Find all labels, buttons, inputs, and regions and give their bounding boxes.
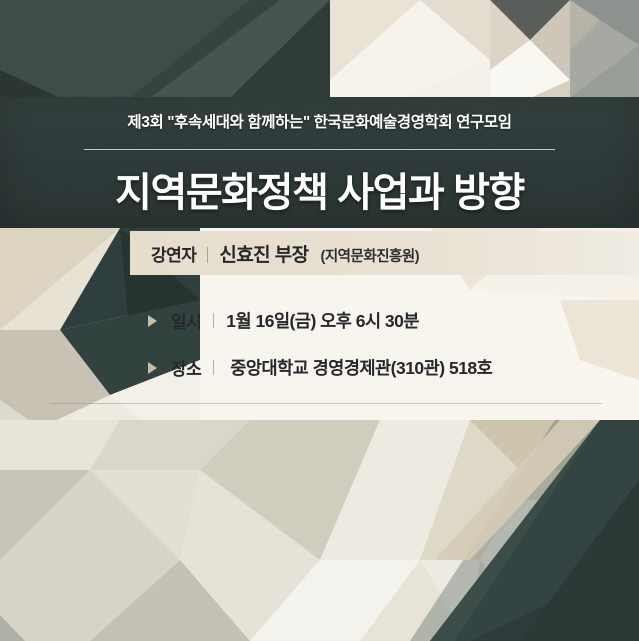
- date-value: 1월 16일(금) 오후 6시 30분: [226, 308, 419, 333]
- event-poster: 제3회 "후속세대와 함께하는" 한국문화예술경영학회 연구모임 지역문화정책 …: [0, 0, 639, 641]
- triangle-bullet-icon: [148, 315, 157, 327]
- event-subtitle: 제3회 "후속세대와 함께하는" 한국문화예술경영학회 연구모임: [0, 110, 639, 132]
- speaker-label: 강연자: [151, 241, 196, 266]
- header-divider: [84, 149, 555, 150]
- speaker-name: 신효진 부장: [219, 240, 308, 267]
- detail-row-venue: 장소 중앙대학교 경영경제관(310관) 518호: [148, 355, 492, 380]
- date-separator: [213, 313, 214, 328]
- speaker-row: 강연자 신효진 부장 (지역문화진흥원): [151, 240, 419, 267]
- page-title: 지역문화정책 사업과 방향: [0, 160, 639, 218]
- venue-value: 중앙대학교 경영경제관(310관) 518호: [230, 355, 492, 380]
- speaker-separator: [207, 247, 208, 263]
- section-divider: [50, 403, 602, 404]
- triangle-bullet-icon: [148, 362, 157, 374]
- date-label: 일시: [171, 308, 201, 333]
- speaker-organization: (지역문화진흥원): [321, 245, 420, 266]
- detail-row-date: 일시 1월 16일(금) 오후 6시 30분: [148, 308, 419, 333]
- venue-separator: [213, 360, 214, 375]
- venue-label: 장소: [171, 355, 201, 380]
- footer: ACM Korean society of arts and cultural …: [0, 580, 639, 641]
